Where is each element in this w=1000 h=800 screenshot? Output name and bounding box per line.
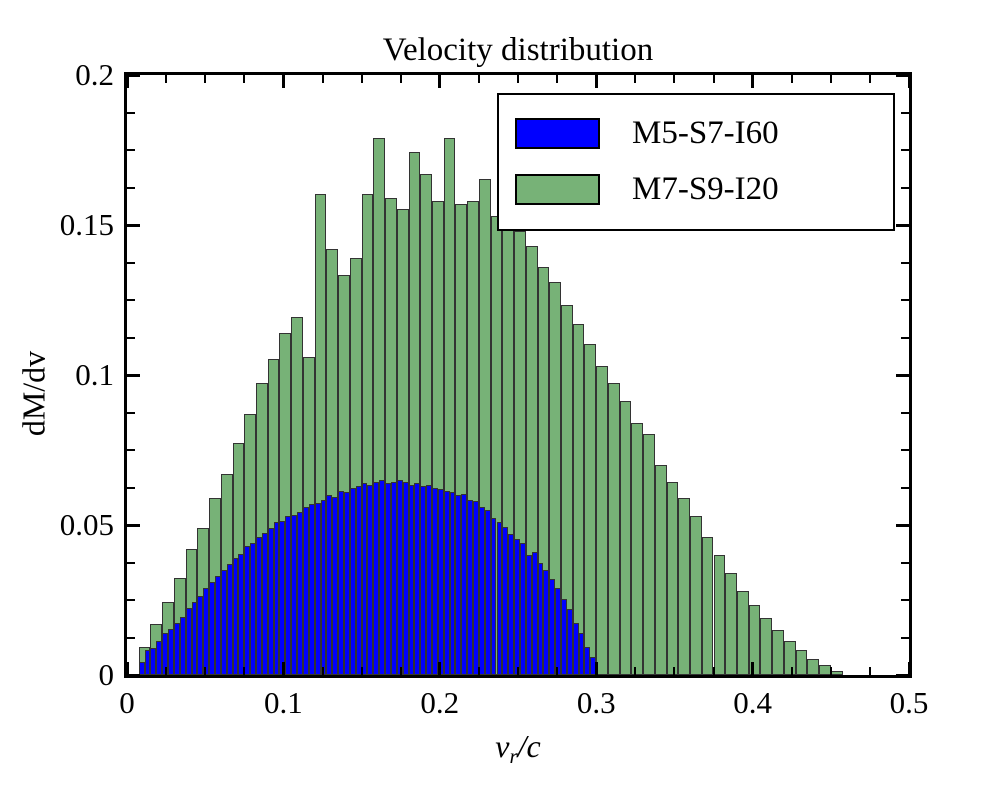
legend-label-m5-s7-i60: M5-S7-I60 bbox=[632, 115, 779, 152]
axis-tick bbox=[901, 337, 909, 339]
axis-tick bbox=[595, 662, 598, 675]
axis-tick bbox=[901, 149, 909, 151]
axis-tick bbox=[478, 75, 480, 83]
chart-figure: Velocity distribution 00.10.20.30.40.5 0… bbox=[0, 0, 1000, 800]
axis-tick bbox=[634, 75, 636, 83]
axis-tick bbox=[400, 75, 402, 83]
axis-tick bbox=[243, 75, 245, 83]
axis-tick bbox=[830, 75, 832, 83]
axis-tick bbox=[127, 299, 135, 301]
axis-tick bbox=[517, 75, 519, 83]
axis-tick bbox=[634, 667, 636, 675]
histogram-bar bbox=[737, 591, 749, 675]
axis-tick bbox=[361, 75, 363, 83]
legend-swatch-m7-s9-i20 bbox=[515, 174, 600, 205]
axis-tick bbox=[713, 75, 715, 83]
axis-tick bbox=[901, 187, 909, 189]
legend-item-1[interactable]: M7-S9-I20 bbox=[515, 161, 877, 217]
axis-tick bbox=[438, 662, 441, 675]
axis-tick bbox=[896, 374, 909, 377]
histogram-bar bbox=[608, 383, 620, 676]
axis-tick bbox=[204, 667, 206, 675]
histogram-bar bbox=[796, 650, 808, 676]
histogram-bar bbox=[772, 630, 784, 675]
histogram-bar bbox=[620, 401, 632, 676]
axis-tick bbox=[556, 75, 558, 83]
axis-tick bbox=[127, 187, 135, 189]
axis-tick bbox=[751, 75, 754, 88]
axis-tick bbox=[282, 75, 285, 88]
axis-tick bbox=[400, 667, 402, 675]
axis-tick bbox=[322, 667, 324, 675]
y-tick-label: 0.15 bbox=[60, 208, 114, 242]
histogram-bar bbox=[702, 537, 714, 675]
axis-tick bbox=[517, 667, 519, 675]
axis-tick bbox=[901, 262, 909, 264]
histogram-bar bbox=[725, 573, 737, 675]
histogram-bar bbox=[667, 482, 679, 676]
histogram-bar bbox=[596, 366, 608, 675]
histogram-bar bbox=[760, 618, 772, 675]
axis-tick bbox=[673, 667, 675, 675]
x-tick-label: 0.1 bbox=[264, 686, 303, 720]
axis-tick bbox=[478, 667, 480, 675]
axis-tick bbox=[713, 667, 715, 675]
histogram-bar bbox=[584, 344, 596, 676]
axis-tick bbox=[127, 262, 135, 264]
axis-tick bbox=[127, 524, 140, 527]
x-tick-label: 0 bbox=[119, 686, 135, 720]
axis-tick bbox=[791, 75, 793, 83]
axis-tick bbox=[751, 662, 754, 675]
axis-tick bbox=[361, 667, 363, 675]
legend-label-m7-s9-i20: M7-S9-I20 bbox=[632, 171, 779, 208]
axis-tick bbox=[595, 75, 598, 88]
axis-tick bbox=[896, 524, 909, 527]
axis-tick bbox=[901, 487, 909, 489]
axis-tick bbox=[869, 667, 871, 675]
histogram-bar bbox=[631, 423, 643, 675]
axis-tick bbox=[869, 75, 871, 83]
axis-tick bbox=[127, 337, 135, 339]
axis-tick bbox=[127, 562, 135, 564]
axis-tick bbox=[901, 412, 909, 414]
y-tick-label: 0.1 bbox=[75, 358, 114, 392]
axis-tick bbox=[908, 75, 911, 88]
axis-tick bbox=[127, 74, 140, 77]
axis-tick bbox=[126, 75, 129, 88]
axis-tick bbox=[282, 662, 285, 675]
legend: M5-S7-I60 M7-S9-I20 bbox=[497, 93, 895, 231]
axis-tick bbox=[901, 637, 909, 639]
histogram-bar bbox=[714, 555, 726, 675]
axis-tick bbox=[896, 674, 909, 677]
axis-tick bbox=[127, 599, 135, 601]
x-tick-label: 0.3 bbox=[577, 686, 616, 720]
x-axis-label-subscript: r bbox=[509, 744, 517, 768]
axis-tick bbox=[127, 674, 140, 677]
x-axis-label-v: v bbox=[495, 728, 509, 764]
axis-tick bbox=[204, 75, 206, 83]
histogram-bar bbox=[690, 516, 702, 675]
axis-tick bbox=[556, 667, 558, 675]
histogram-bar bbox=[643, 434, 655, 676]
axis-tick bbox=[127, 374, 140, 377]
histogram-bar bbox=[807, 659, 819, 676]
axis-tick bbox=[127, 149, 135, 151]
axis-tick bbox=[165, 667, 167, 675]
x-tick-label: 0.4 bbox=[733, 686, 772, 720]
legend-swatch-m5-s7-i60 bbox=[515, 118, 600, 149]
histogram-bar bbox=[831, 671, 843, 676]
axis-tick bbox=[127, 412, 135, 414]
y-tick-label: 0.05 bbox=[60, 508, 114, 542]
histogram-bar bbox=[678, 498, 690, 675]
x-axis-label-rest: /c bbox=[518, 728, 541, 764]
axis-tick bbox=[438, 75, 441, 88]
x-tick-label: 0.5 bbox=[890, 686, 929, 720]
histogram-bar bbox=[655, 465, 667, 675]
axis-tick bbox=[127, 112, 135, 114]
axis-tick bbox=[901, 599, 909, 601]
axis-tick bbox=[127, 449, 135, 451]
x-tick-label: 0.2 bbox=[420, 686, 459, 720]
axis-tick bbox=[127, 224, 140, 227]
axis-tick bbox=[243, 667, 245, 675]
y-axis-label: dM/dv bbox=[16, 244, 53, 544]
axis-tick bbox=[896, 224, 909, 227]
axis-tick bbox=[791, 667, 793, 675]
axis-tick bbox=[673, 75, 675, 83]
x-axis-label: vr/c bbox=[124, 728, 912, 769]
axis-tick bbox=[901, 562, 909, 564]
axis-tick bbox=[901, 112, 909, 114]
axis-tick bbox=[322, 75, 324, 83]
axis-tick bbox=[901, 449, 909, 451]
chart-title: Velocity distribution bbox=[124, 30, 912, 70]
axis-tick bbox=[901, 299, 909, 301]
axis-tick bbox=[127, 487, 135, 489]
axis-tick bbox=[830, 667, 832, 675]
axis-tick bbox=[127, 637, 135, 639]
y-tick-label: 0 bbox=[99, 658, 115, 692]
axis-tick bbox=[165, 75, 167, 83]
axis-tick bbox=[896, 74, 909, 77]
y-tick-label: 0.2 bbox=[75, 58, 114, 92]
legend-item-0[interactable]: M5-S7-I60 bbox=[515, 105, 877, 161]
